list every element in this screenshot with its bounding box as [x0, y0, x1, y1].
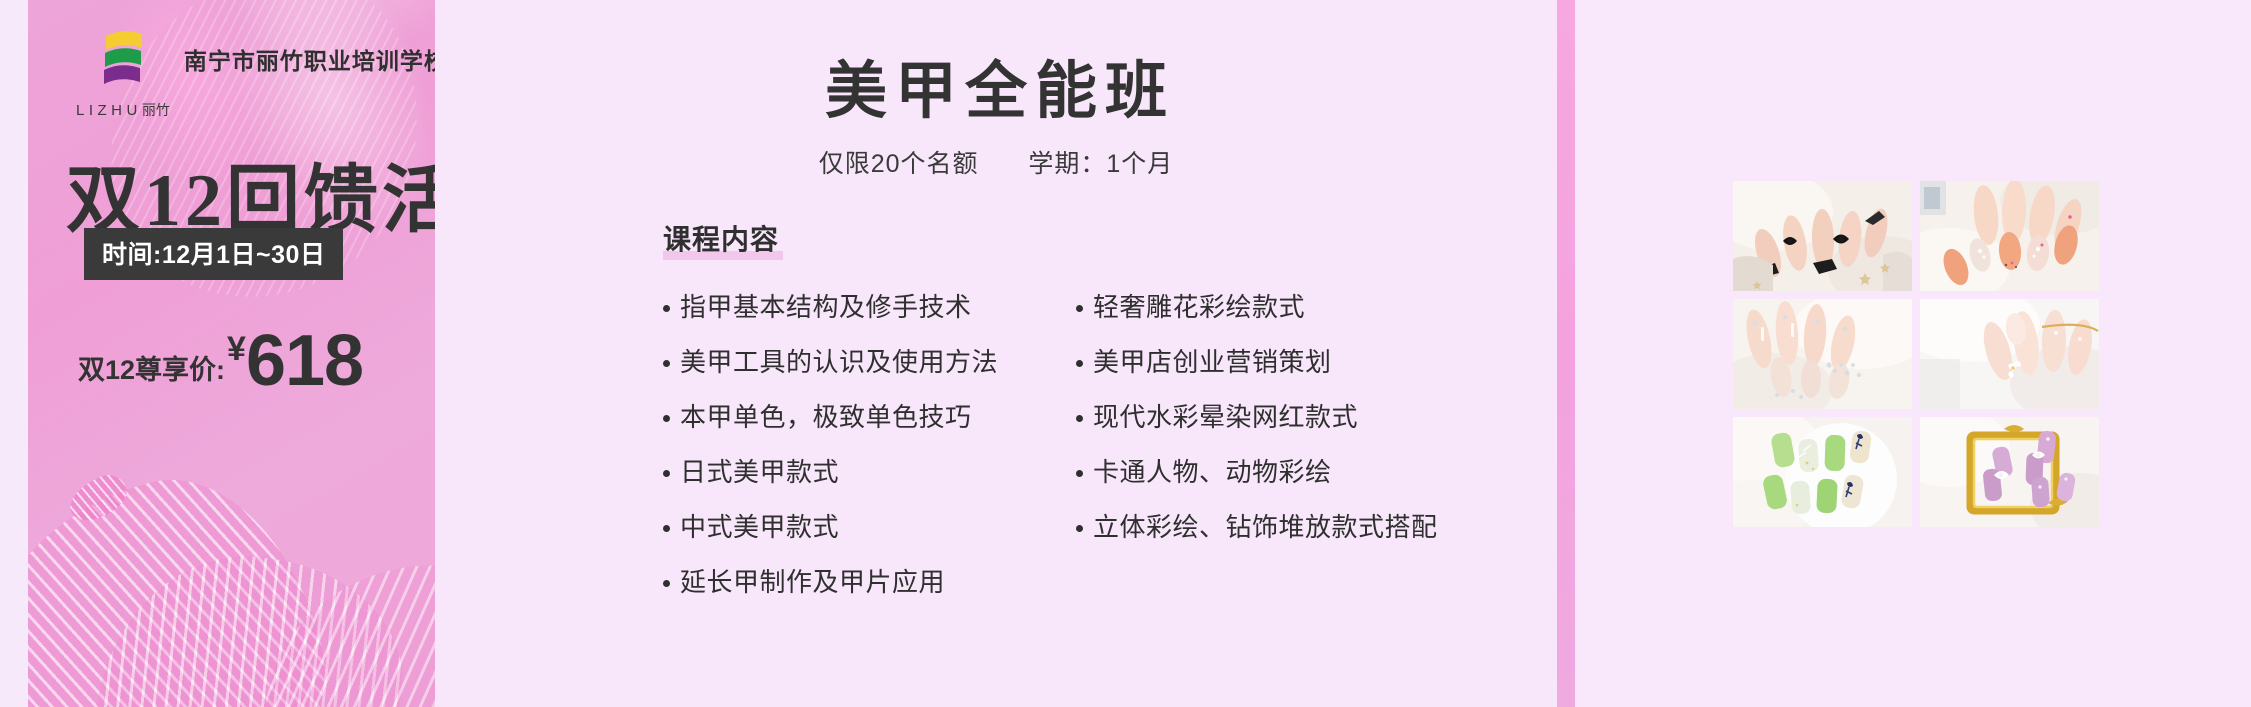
- list-item-label: 延长甲制作及甲片应用: [680, 569, 945, 595]
- list-item-label: 现代水彩晕染网红款式: [1093, 404, 1358, 430]
- school-name: 南宁市丽竹职业培训学校: [184, 42, 435, 76]
- list-item: 美甲店创业营销策划: [1076, 335, 1438, 390]
- list-item: 立体彩绘、钻饰堆放款式搭配: [1076, 500, 1438, 555]
- nail-photo-green-gradient-rose: [1733, 417, 1912, 527]
- flower-petal-decoration-small: [63, 470, 132, 526]
- course-duration: 学期：1个月: [1028, 150, 1173, 178]
- bullet-dot-icon: [1076, 360, 1083, 367]
- nail-photo-black-french-bow: [1733, 181, 1912, 291]
- bullet-dot-icon: [663, 415, 670, 422]
- nail-photo-pink-flower-white: [1920, 299, 2099, 409]
- list-item: 延长甲制作及甲片应用: [663, 555, 998, 610]
- list-item: 中式美甲款式: [663, 500, 998, 555]
- currency-symbol: ¥: [227, 330, 246, 369]
- bullet-dot-icon: [663, 525, 670, 532]
- bullet-dot-icon: [1076, 470, 1083, 477]
- left-panel-background: LIZHU丽竹 南宁市丽竹职业培训学校 双12回馈活动 时间:12月1日~30日…: [28, 0, 435, 707]
- lizhu-logo-icon: [92, 28, 154, 98]
- panel-divider: [1557, 0, 1575, 707]
- price-value: 618: [246, 328, 363, 394]
- logo-wordmark: LIZHU丽竹: [76, 100, 170, 120]
- brand-header: LIZHU丽竹 南宁市丽竹职业培训学校: [76, 28, 435, 120]
- course-quota: 仅限20个名额: [819, 150, 979, 178]
- course-content-lists: 指甲基本结构及修手技术 美甲工具的认识及使用方法 本甲单色，极致单色技巧 日式美…: [435, 280, 1557, 610]
- course-subtitle: 仅限20个名额 学期：1个月: [435, 144, 1557, 180]
- bullet-dot-icon: [1076, 525, 1083, 532]
- section-heading-wrapper: 课程内容: [435, 180, 1557, 258]
- nail-photo-purple-bow-gold-frame: [1920, 417, 2099, 527]
- list-item-label: 立体彩绘、钻饰堆放款式搭配: [1093, 514, 1438, 540]
- bullet-dot-icon: [663, 470, 670, 477]
- flower-petal-decoration-bottom-left: [28, 452, 353, 707]
- price-block: 双12尊享价: ¥ 618: [78, 328, 363, 394]
- nail-photo-grid: [1733, 181, 2099, 527]
- list-item-label: 轻奢雕花彩绘款式: [1093, 294, 1305, 320]
- list-item: 现代水彩晕染网红款式: [1076, 390, 1438, 445]
- bullet-dot-icon: [663, 305, 670, 312]
- list-item-label: 卡通人物、动物彩绘: [1093, 459, 1332, 485]
- nail-photo-clear-rhinestone: [1733, 299, 1912, 409]
- list-item-label: 美甲店创业营销策划: [1093, 349, 1332, 375]
- course-list-left: 指甲基本结构及修手技术 美甲工具的认识及使用方法 本甲单色，极致单色技巧 日式美…: [663, 280, 998, 610]
- logo-text-en: LIZHU: [76, 102, 142, 119]
- nail-photo-nude-peach-floral: [1920, 181, 2099, 291]
- list-item: 卡通人物、动物彩绘: [1076, 445, 1438, 500]
- list-item: 本甲单色，极致单色技巧: [663, 390, 998, 445]
- flower-petal-decoration-bottom-right: [250, 552, 435, 707]
- bullet-dot-icon: [1076, 415, 1083, 422]
- promo-date-badge: 时间:12月1日~30日: [84, 228, 343, 280]
- list-item-label: 日式美甲款式: [680, 459, 839, 485]
- list-item: 指甲基本结构及修手技术: [663, 280, 998, 335]
- gallery-panel: [1575, 0, 2251, 707]
- list-item: 轻奢雕花彩绘款式: [1076, 280, 1438, 335]
- bullet-dot-icon: [1076, 305, 1083, 312]
- list-item-label: 指甲基本结构及修手技术: [680, 294, 972, 320]
- list-item-label: 美甲工具的认识及使用方法: [680, 349, 998, 375]
- course-list-right: 轻奢雕花彩绘款式 美甲店创业营销策划 现代水彩晕染网红款式 卡通人物、动物彩绘 …: [1076, 280, 1438, 610]
- bullet-dot-icon: [663, 580, 670, 587]
- flower-petal-decoration-bottom-left-2: [79, 538, 418, 707]
- list-item: 日式美甲款式: [663, 445, 998, 500]
- promotional-banner: LIZHU丽竹 南宁市丽竹职业培训学校 双12回馈活动 时间:12月1日~30日…: [0, 0, 2251, 707]
- section-heading-course-content: 课程内容: [663, 218, 779, 258]
- course-info-panel: 美甲全能班 仅限20个名额 学期：1个月 课程内容 指甲基本结构及修手技术 美甲…: [435, 0, 1557, 707]
- list-item: 美甲工具的认识及使用方法: [663, 335, 998, 390]
- list-item-label: 中式美甲款式: [680, 514, 839, 540]
- price-label: 双12尊享价:: [78, 348, 225, 394]
- list-item-label: 本甲单色，极致单色技巧: [680, 404, 972, 430]
- course-title: 美甲全能班: [435, 40, 1557, 130]
- bullet-dot-icon: [663, 360, 670, 367]
- logo-text-cn: 丽竹: [142, 102, 170, 118]
- left-promo-panel: LIZHU丽竹 南宁市丽竹职业培训学校 双12回馈活动 时间:12月1日~30日…: [0, 0, 435, 707]
